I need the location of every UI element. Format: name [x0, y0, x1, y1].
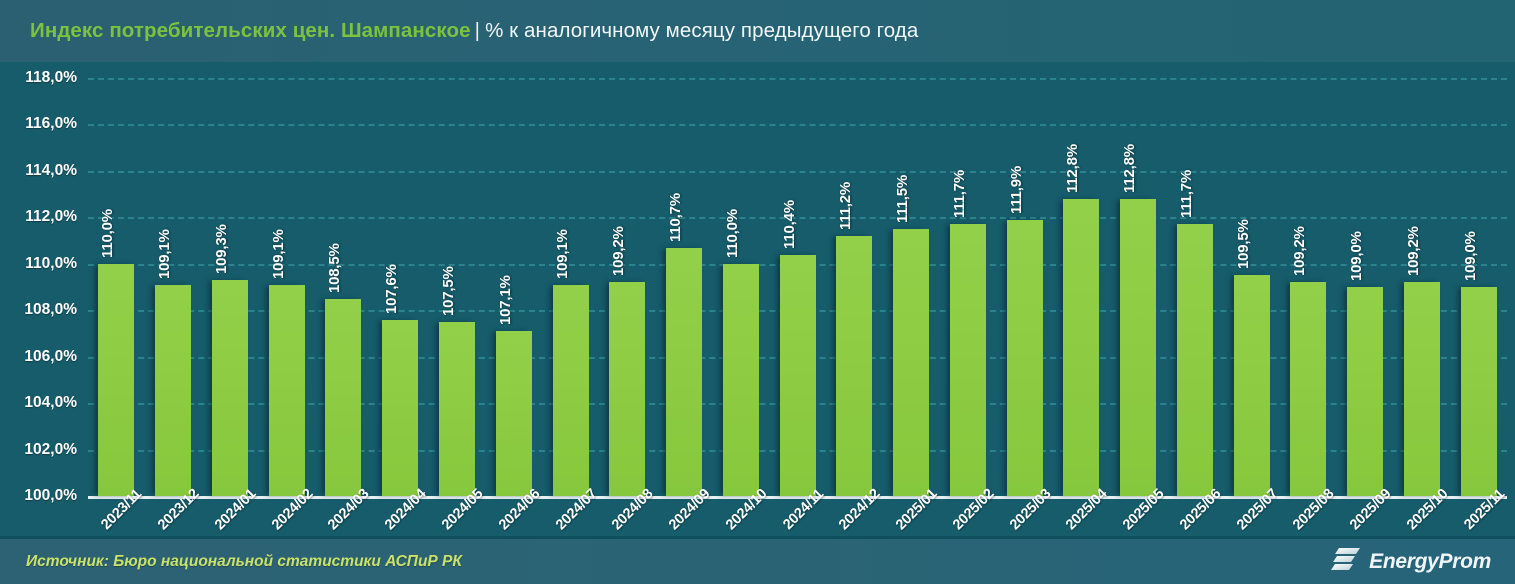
- bar-value-label: 111,5%: [894, 175, 911, 223]
- bar-value-label: 109,2%: [1405, 227, 1422, 277]
- x-label-slot: 2024/12: [826, 498, 883, 536]
- bar-slot: 107,5%: [429, 78, 486, 496]
- bar-value-label: 107,5%: [440, 266, 457, 316]
- x-label-slot: 2024/02: [258, 498, 315, 536]
- bar-slot: 109,2%: [1394, 78, 1451, 496]
- bar[interactable]: 109,1%: [269, 285, 305, 496]
- logo-wordmark: EnergyProm: [1369, 550, 1491, 574]
- bar-slot: 111,7%: [939, 78, 996, 496]
- title-highlight: Индекс потребительских цен. Шампанское: [30, 19, 471, 42]
- y-axis-tick-label: 108,0%: [24, 301, 77, 319]
- y-axis-tick-label: 100,0%: [24, 487, 77, 505]
- bar-slot: 108,5%: [315, 78, 372, 496]
- x-label-slot: 2025/07: [1223, 498, 1280, 536]
- chart-plot-area: 118,0%116,0%114,0%112,0%110,0%108,0%106,…: [0, 62, 1515, 536]
- x-label-slot: 2024/03: [315, 498, 372, 536]
- bar[interactable]: 109,1%: [553, 285, 589, 496]
- bar-slot: 111,5%: [883, 78, 940, 496]
- bar-slot: 109,1%: [145, 78, 202, 496]
- bar-value-label: 107,6%: [383, 264, 400, 314]
- bar[interactable]: 109,5%: [1234, 275, 1270, 496]
- bar-slot: 109,5%: [1223, 78, 1280, 496]
- bar[interactable]: 111,7%: [950, 224, 986, 496]
- y-axis-tick-label: 110,0%: [25, 255, 77, 273]
- x-label-slot: 2025/03: [996, 498, 1053, 536]
- x-label-slot: 2025/06: [1167, 498, 1224, 536]
- y-axis-tick-label: 114,0%: [25, 162, 77, 180]
- x-label-slot: 2025/01: [883, 498, 940, 536]
- bar[interactable]: 109,0%: [1461, 287, 1497, 496]
- bar[interactable]: 110,4%: [780, 255, 816, 497]
- x-label-slot: 2024/06: [485, 498, 542, 536]
- bar[interactable]: 109,3%: [212, 280, 248, 496]
- x-label-slot: 2024/11: [769, 498, 826, 536]
- bar-slot: 109,2%: [1280, 78, 1337, 496]
- bar-value-label: 109,1%: [554, 229, 571, 279]
- bar-slot: 112,8%: [1053, 78, 1110, 496]
- x-label-slot: 2025/04: [1053, 498, 1110, 536]
- x-label-slot: 2024/01: [202, 498, 259, 536]
- bar[interactable]: 112,8%: [1120, 199, 1156, 496]
- plot-region: 118,0%116,0%114,0%112,0%110,0%108,0%106,…: [88, 78, 1507, 496]
- bar[interactable]: 108,5%: [325, 299, 361, 496]
- bar-slot: 110,0%: [88, 78, 145, 496]
- bar-value-label: 109,1%: [270, 229, 287, 279]
- y-axis-tick-label: 118,0%: [25, 69, 77, 87]
- bar-slot: 107,1%: [485, 78, 542, 496]
- bar[interactable]: 112,8%: [1063, 199, 1099, 496]
- bar[interactable]: 111,5%: [893, 229, 929, 496]
- bar[interactable]: 109,2%: [1290, 282, 1326, 496]
- bar-slot: 111,2%: [826, 78, 883, 496]
- bar-value-label: 109,2%: [1291, 227, 1308, 277]
- bar-value-label: 112,8%: [1121, 144, 1138, 193]
- bar-value-label: 110,7%: [667, 193, 684, 242]
- y-axis-tick-label: 116,0%: [25, 115, 77, 133]
- bar-value-label: 112,8%: [1064, 144, 1081, 193]
- bar[interactable]: 109,0%: [1347, 287, 1383, 496]
- bar-slot: 109,0%: [1450, 78, 1507, 496]
- x-label-slot: 2025/08: [1280, 498, 1337, 536]
- chart-header: Индекс потребительских цен. Шампанское|%…: [0, 0, 1515, 62]
- bar-value-label: 110,0%: [99, 209, 116, 258]
- bar[interactable]: 110,7%: [666, 248, 702, 496]
- bar-value-label: 109,0%: [1462, 231, 1479, 281]
- x-label-slot: 2025/09: [1337, 498, 1394, 536]
- bar[interactable]: 110,0%: [723, 264, 759, 496]
- x-label-slot: 2024/04: [372, 498, 429, 536]
- x-label-slot: 2025/11: [1450, 498, 1507, 536]
- y-axis-tick-label: 106,0%: [24, 348, 77, 366]
- bar-value-label: 109,2%: [610, 227, 627, 277]
- bar-slot: 109,1%: [542, 78, 599, 496]
- title-separator: |: [471, 19, 485, 42]
- bar-value-label: 111,9%: [1008, 166, 1025, 214]
- bar-series: 110,0%109,1%109,3%109,1%108,5%107,6%107,…: [88, 78, 1507, 496]
- x-label-slot: 2023/12: [145, 498, 202, 536]
- x-label-slot: 2024/09: [656, 498, 713, 536]
- bar-value-label: 110,0%: [724, 209, 741, 258]
- source-note: Источник: Бюро национальной статистики А…: [26, 553, 462, 571]
- bar-value-label: 109,3%: [213, 224, 230, 274]
- x-label-slot: 2025/02: [939, 498, 996, 536]
- bar-value-label: 111,2%: [837, 182, 854, 230]
- bar-value-label: 109,5%: [1235, 220, 1252, 270]
- x-label-slot: 2024/05: [429, 498, 486, 536]
- y-axis-tick-label: 104,0%: [24, 394, 77, 412]
- energyprom-e-mark-icon: [1331, 546, 1361, 577]
- chart-page: Индекс потребительских цен. Шампанское|%…: [0, 0, 1515, 584]
- bar-slot: 111,9%: [996, 78, 1053, 496]
- x-label-slot: 2024/07: [542, 498, 599, 536]
- y-axis-tick-label: 102,0%: [24, 441, 77, 459]
- x-axis-labels: 2023/112023/122024/012024/022024/032024/…: [88, 498, 1507, 536]
- x-label-slot: 2025/05: [1110, 498, 1167, 536]
- bar-slot: 110,0%: [712, 78, 769, 496]
- bar-slot: 110,7%: [656, 78, 713, 496]
- bar[interactable]: 109,2%: [1404, 282, 1440, 496]
- bar[interactable]: 111,9%: [1007, 220, 1043, 496]
- energyprom-logo[interactable]: EnergyProm: [1323, 542, 1501, 581]
- bar[interactable]: 111,2%: [836, 236, 872, 496]
- bar[interactable]: 107,6%: [382, 320, 418, 496]
- bar-slot: 109,2%: [599, 78, 656, 496]
- bar[interactable]: 109,2%: [609, 282, 645, 496]
- bar-value-label: 107,1%: [497, 275, 514, 325]
- bar-slot: 109,0%: [1337, 78, 1394, 496]
- bar-slot: 107,6%: [372, 78, 429, 496]
- x-label-slot: 2024/10: [712, 498, 769, 536]
- bar-value-label: 110,4%: [781, 200, 798, 249]
- bar-value-label: 111,7%: [1178, 170, 1195, 218]
- bar-slot: 112,8%: [1110, 78, 1167, 496]
- bar[interactable]: 110,0%: [98, 264, 134, 496]
- bar-value-label: 108,5%: [326, 243, 343, 293]
- bar[interactable]: 107,1%: [496, 331, 532, 496]
- y-axis-tick-label: 112,0%: [25, 208, 77, 226]
- page-title: Индекс потребительских цен. Шампанское|%…: [30, 21, 918, 42]
- bar[interactable]: 107,5%: [439, 322, 475, 496]
- bar-slot: 111,7%: [1167, 78, 1224, 496]
- bar-slot: 109,3%: [202, 78, 259, 496]
- title-subtitle: % к аналогичному месяцу предыдущего года: [485, 19, 918, 42]
- bar[interactable]: 111,7%: [1177, 224, 1213, 496]
- bar-value-label: 109,0%: [1348, 231, 1365, 281]
- x-label-slot: 2023/11: [88, 498, 145, 536]
- x-label-slot: 2024/08: [599, 498, 656, 536]
- bar-slot: 109,1%: [258, 78, 315, 496]
- x-label-slot: 2025/10: [1394, 498, 1451, 536]
- bar-slot: 110,4%: [769, 78, 826, 496]
- bar-value-label: 109,1%: [156, 229, 173, 279]
- bar[interactable]: 109,1%: [155, 285, 191, 496]
- chart-footer: Источник: Бюро национальной статистики А…: [0, 536, 1515, 584]
- bar-value-label: 111,7%: [951, 170, 968, 218]
